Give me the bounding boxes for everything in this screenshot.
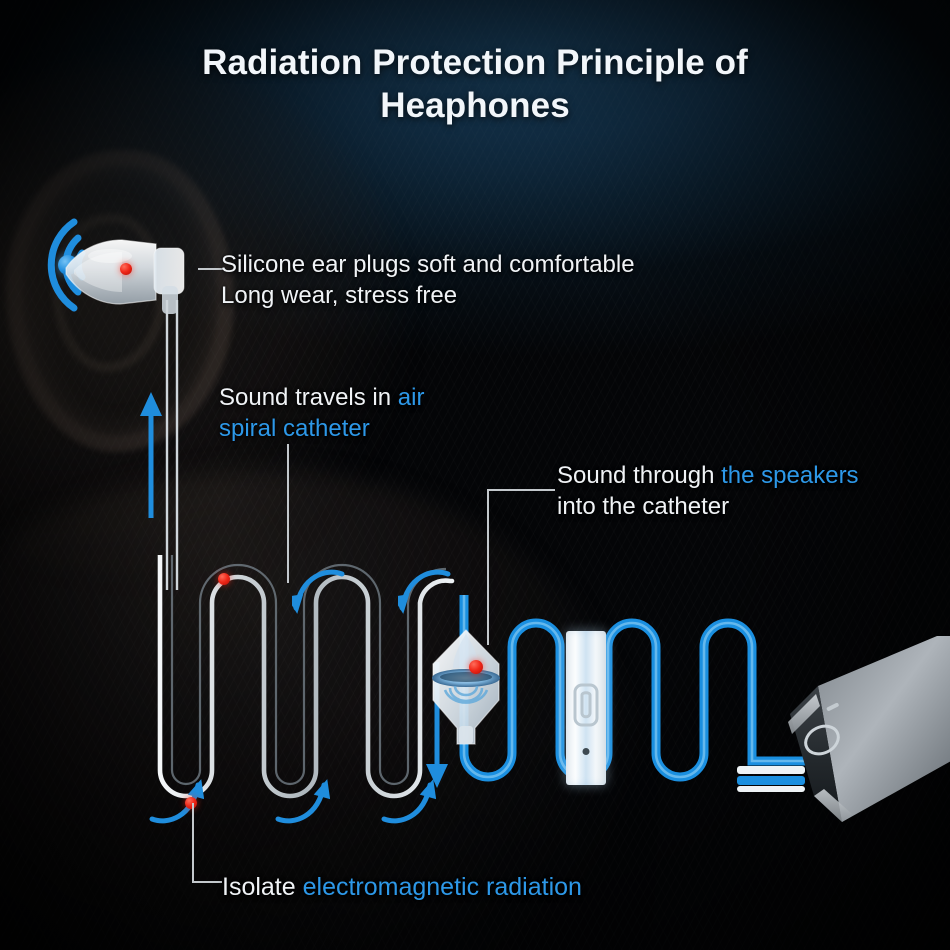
leader-line-isolate-horizontal — [192, 881, 222, 883]
callout-speaker: Sound through the speakers into the cath… — [557, 460, 859, 522]
earbud-marker-dot — [120, 263, 132, 275]
flow-bend-arrow-1 — [292, 562, 352, 618]
speaker-capsule-icon — [423, 628, 509, 748]
infographic-canvas: Radiation Protection Principle of Heapho… — [0, 0, 950, 950]
callout-speaker-line1: Sound through the speakers — [557, 460, 859, 491]
callout-speaker-line1-accent: the speakers — [721, 462, 858, 489]
callout-isolate-radiation: Isolate electromagnetic radiation — [222, 871, 582, 904]
flow-bend-arrow-3 — [272, 775, 330, 831]
leader-line-isolate-vertical — [192, 803, 194, 883]
headphone-plug — [737, 762, 807, 794]
callout-earplug: Silicone ear plugs soft and comfortable … — [221, 249, 635, 311]
page-title: Radiation Protection Principle of Heapho… — [0, 42, 950, 127]
callout-earplug-line1: Silicone ear plugs soft and comfortable — [221, 249, 635, 280]
callout-air-line2-accent: spiral catheter — [219, 413, 424, 444]
phone-handset-icon — [573, 683, 599, 727]
catheter-marker-dot-bottom — [185, 797, 197, 809]
callout-air-line1-accent: air — [398, 384, 425, 411]
callout-air-spiral-catheter: Sound travels in air spiral catheter — [219, 382, 424, 444]
callout-earplug-line2: Long wear, stress free — [221, 280, 635, 311]
microphone-hole — [583, 748, 590, 755]
smartphone-icon — [780, 636, 950, 826]
inline-remote-module[interactable] — [566, 631, 606, 785]
callout-speaker-line2: into the catheter — [557, 491, 859, 522]
page-title-line2: Heaphones — [90, 85, 860, 128]
leader-line-speaker-horizontal — [487, 489, 555, 491]
callout-air-line1: Sound travels in air — [219, 382, 424, 413]
leader-line-speaker-vertical — [487, 489, 489, 645]
speaker-marker-dot — [469, 660, 483, 674]
callout-air-line1-white: Sound travels in — [219, 384, 398, 411]
callout-isolate-line1: Isolate electromagnetic radiation — [222, 871, 582, 904]
callout-isolate-accent: electromagnetic radiation — [303, 873, 582, 901]
callout-speaker-line1-white: Sound through — [557, 462, 721, 489]
page-title-line1: Radiation Protection Principle of — [90, 42, 860, 85]
callout-isolate-white: Isolate — [222, 873, 303, 901]
sound-travels-up-arrow — [138, 390, 164, 520]
catheter-marker-dot-top — [218, 573, 230, 585]
